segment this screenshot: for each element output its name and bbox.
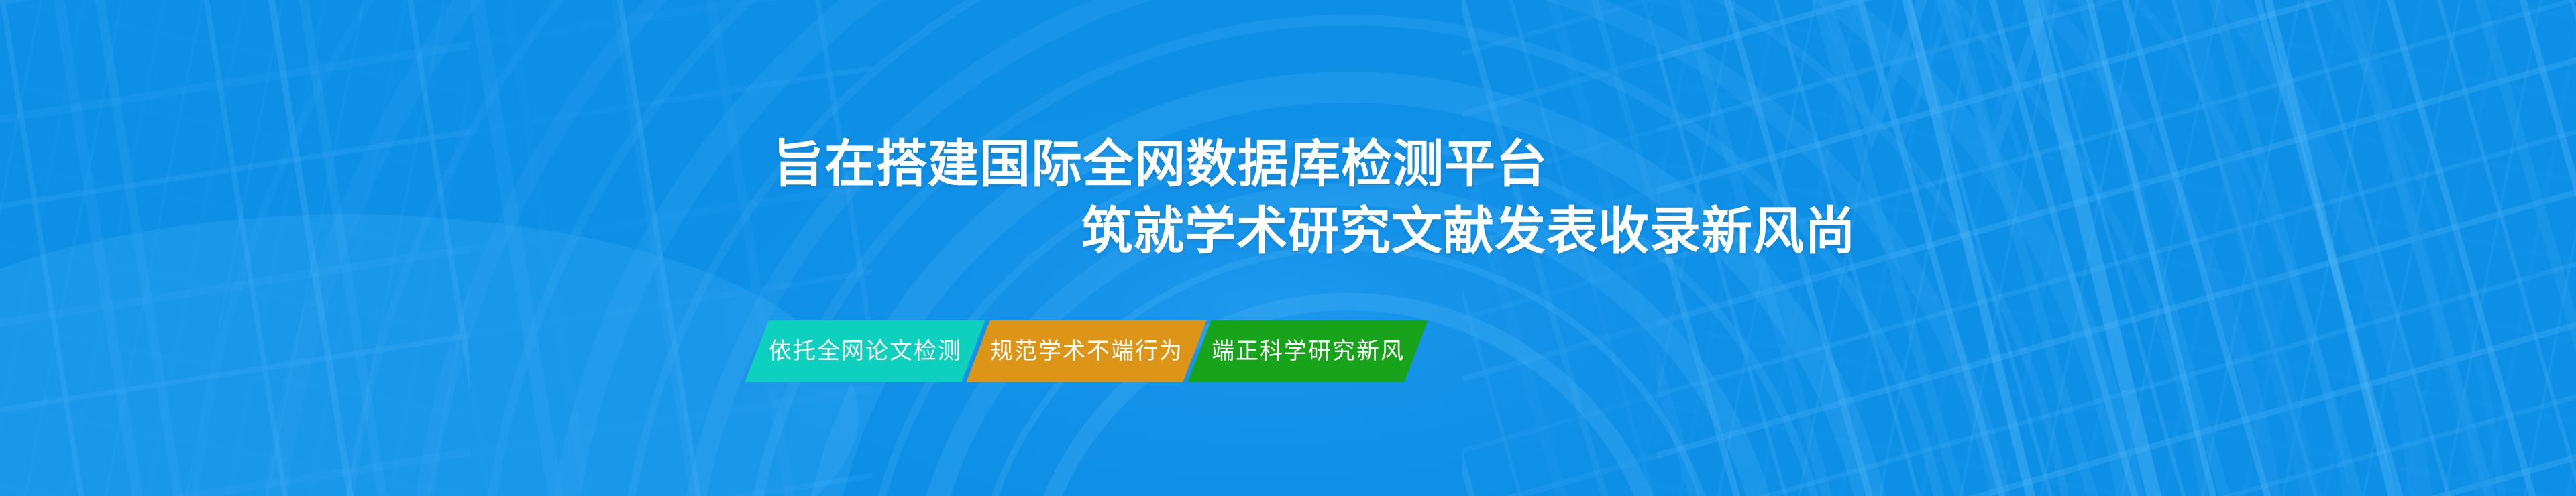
feature-tag-3[interactable]: 端正科学研究新风 bbox=[1187, 320, 1428, 382]
headline-line-1: 旨在搭建国际全网数据库检测平台 bbox=[773, 131, 2576, 198]
hero-banner: 旨在搭建国际全网数据库检测平台 筑就学术研究文献发表收录新风尚 依托全网论文检测… bbox=[0, 0, 2576, 496]
banner-content: 旨在搭建国际全网数据库检测平台 筑就学术研究文献发表收录新风尚 依托全网论文检测… bbox=[0, 0, 2576, 496]
feature-tag-2-label: 规范学术不端行为 bbox=[990, 340, 1183, 363]
headline-line-2: 筑就学术研究文献发表收录新风尚 bbox=[1081, 198, 2576, 265]
feature-tag-1-label: 依托全网论文检测 bbox=[769, 340, 962, 363]
feature-tag-1[interactable]: 依托全网论文检测 bbox=[745, 320, 985, 382]
feature-tag-2[interactable]: 规范学术不端行为 bbox=[966, 320, 1206, 382]
feature-tag-strip: 依托全网论文检测 规范学术不端行为 端正科学研究新风 bbox=[757, 320, 1416, 382]
feature-tag-3-label: 端正科学研究新风 bbox=[1212, 340, 1405, 363]
headline-block: 旨在搭建国际全网数据库检测平台 筑就学术研究文献发表收录新风尚 bbox=[0, 131, 2576, 265]
